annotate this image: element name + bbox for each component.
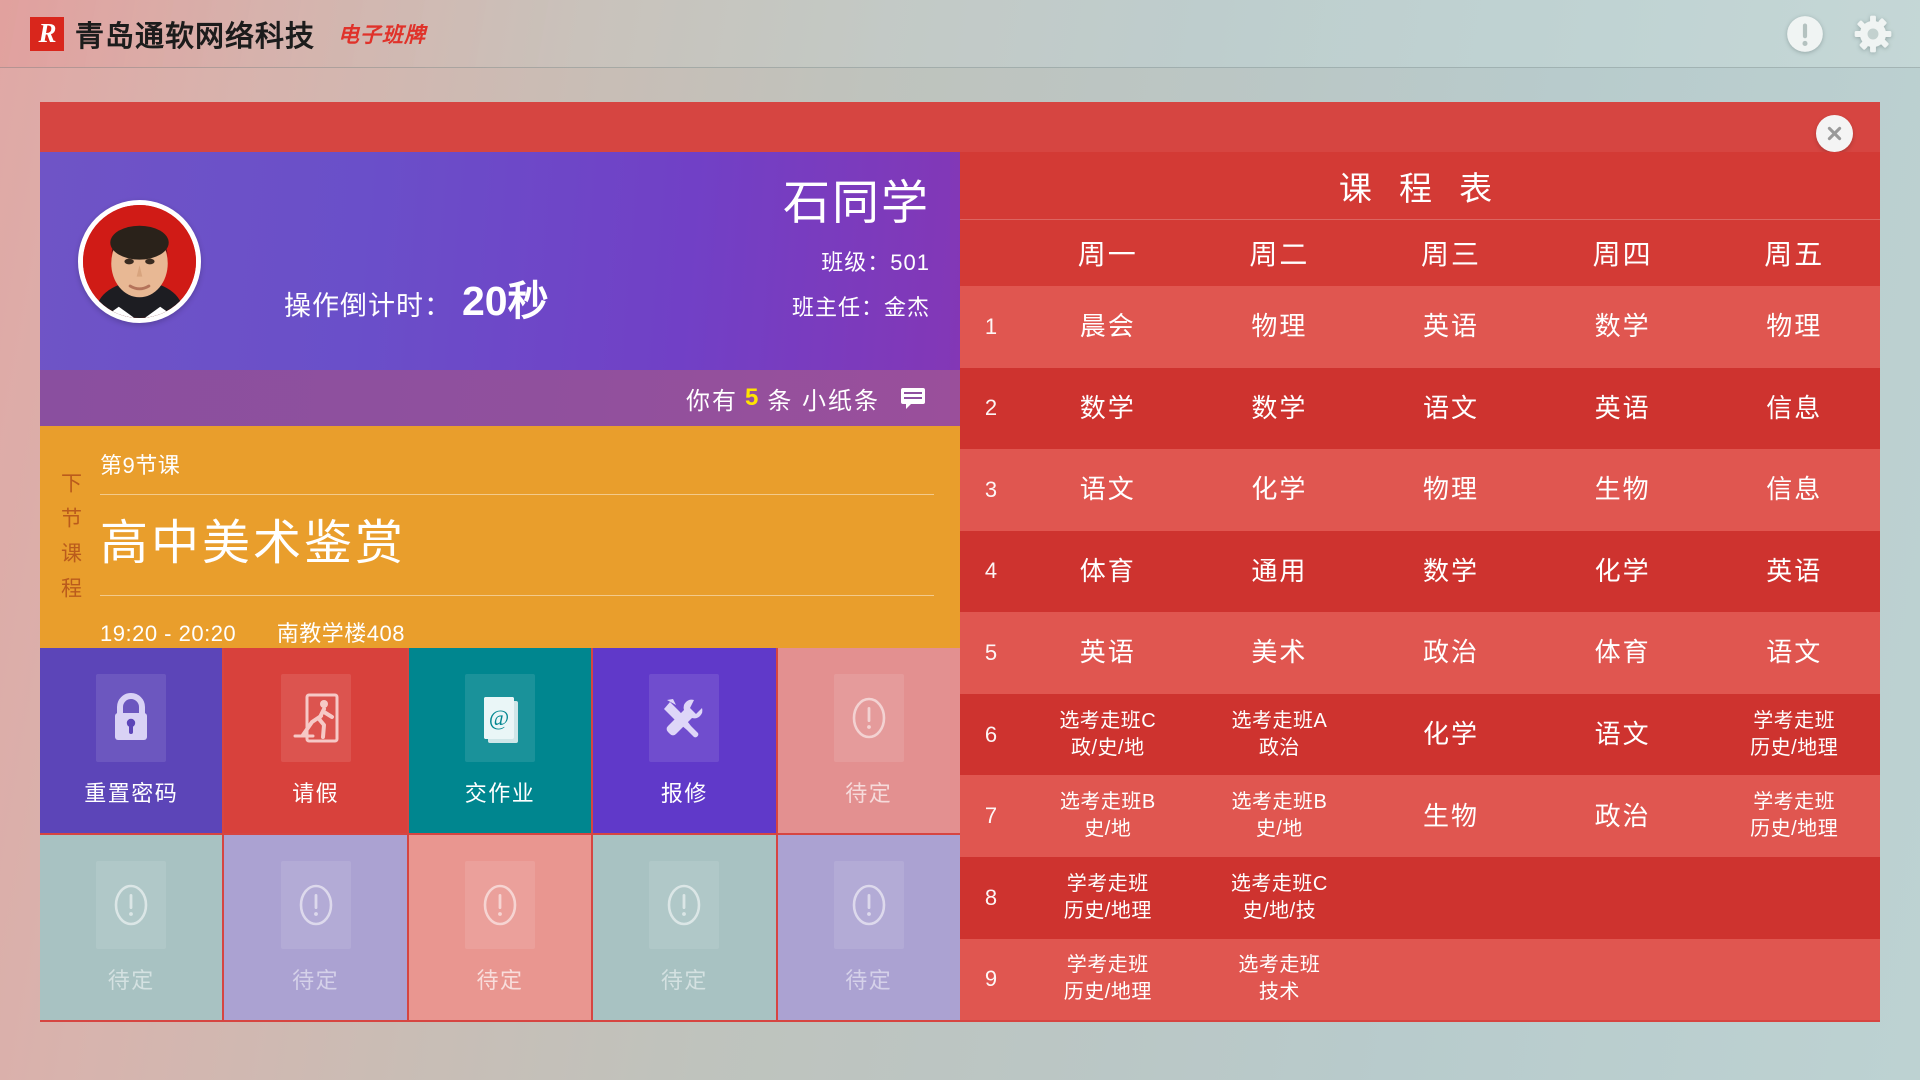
table-cell: 数学	[1022, 391, 1194, 426]
mail-at-icon: @	[465, 674, 535, 762]
pending-icon	[834, 861, 904, 949]
cell-line-1: 学考走班	[1067, 873, 1149, 895]
table-cell: 数学	[1365, 554, 1537, 589]
table-cell: 学考走班 历史/地理	[1022, 871, 1194, 925]
action-pending-6[interactable]: 待定	[778, 835, 960, 1020]
table-row: 5 英语 美术 政治 体育 语文	[960, 612, 1880, 694]
close-icon[interactable]	[1816, 115, 1853, 152]
table-cell: 英语	[1022, 635, 1194, 670]
table-cell: 英语	[1708, 554, 1880, 589]
next-course-body: 第9节课 高中美术鉴赏 19:20 - 20:20 南教学楼408	[100, 426, 960, 648]
lock-icon	[96, 674, 166, 762]
table-cell: 体育	[1537, 635, 1709, 670]
cell-line-1: 学考走班	[1067, 954, 1149, 976]
pending-icon	[834, 674, 904, 762]
table-cell: 选考走班B 史/地	[1022, 789, 1194, 843]
row-index: 8	[960, 885, 1022, 911]
cell-line-1: 选考走班B	[1231, 791, 1327, 813]
header-actions	[1784, 13, 1894, 55]
student-class: 班级：501	[783, 245, 930, 277]
day-header-tue: 周二	[1194, 233, 1366, 273]
table-cell: 化学	[1365, 717, 1537, 752]
next-course-footer: 19:20 - 20:20 南教学楼408	[100, 596, 934, 648]
cell-line-1: 选考走班B	[1060, 791, 1156, 813]
cell-line-1: 选考走班C	[1059, 710, 1156, 732]
action-label: 重置密码	[84, 776, 178, 808]
company-logo-icon: R	[30, 17, 64, 51]
table-row: 8 学考走班 历史/地理 选考走班C 史/地/技	[960, 857, 1880, 939]
table-cell: 数学	[1537, 309, 1709, 344]
action-label: 交作业	[465, 776, 536, 808]
table-cell: 英语	[1537, 391, 1709, 426]
action-label: 待定	[292, 963, 339, 995]
action-pending-4[interactable]: 待定	[409, 835, 591, 1020]
table-cell: 语文	[1022, 472, 1194, 507]
table-row: 4 体育 通用 数学 化学 英语	[960, 531, 1880, 613]
action-grid: 重置密码 请假	[40, 648, 960, 1020]
cell-line-1: 学考走班	[1753, 710, 1835, 732]
timetable-panel: 课 程 表 周一 周二 周三 周四 周五 1 晨会 物理 英语 数学 物理 2 …	[960, 152, 1880, 1020]
action-reset-password[interactable]: 重置密码	[40, 648, 222, 833]
table-cell: 选考走班A 政治	[1194, 708, 1366, 762]
cell-line-2: 历史/地理	[1026, 898, 1190, 925]
pending-icon	[649, 861, 719, 949]
table-cell: 选考走班 技术	[1194, 952, 1366, 1006]
day-header-fri: 周五	[1708, 233, 1880, 273]
cell-line-1: 选考走班A	[1231, 710, 1327, 732]
action-label: 待定	[108, 963, 155, 995]
pending-icon	[281, 861, 351, 949]
action-pending-3[interactable]: 待定	[224, 835, 406, 1020]
next-course-period: 第9节课	[100, 448, 934, 495]
table-row: 1 晨会 物理 英语 数学 物理	[960, 286, 1880, 368]
table-cell: 信息	[1708, 391, 1880, 426]
student-meta: 石同学 班级：501 班主任：金杰	[783, 174, 930, 322]
countdown: 操作倒计时： 20秒	[284, 267, 549, 327]
table-cell: 学考走班 历史/地理	[1708, 708, 1880, 762]
app-header: R 青岛通软网络科技 电子班牌	[0, 0, 1920, 68]
table-row: 9 学考走班 历史/地理 选考走班 技术	[960, 939, 1880, 1021]
cell-line-2: 史/地	[1198, 816, 1362, 843]
brand: R 青岛通软网络科技 电子班牌	[30, 13, 426, 55]
notes-count: 5	[745, 384, 760, 412]
day-header-wed: 周三	[1365, 233, 1537, 273]
table-row: 6 选考走班C 政/史/地 选考走班A 政治 化学 语文 学考走班 历史/地理	[960, 694, 1880, 776]
cell-line-1: 选考走班C	[1231, 873, 1328, 895]
table-cell: 物理	[1708, 309, 1880, 344]
table-cell: 物理	[1194, 309, 1366, 344]
action-report-repair[interactable]: 报修	[593, 648, 775, 833]
cell-line-2: 历史/地理	[1712, 816, 1876, 843]
day-header-thu: 周四	[1537, 233, 1709, 273]
cell-line-2: 技术	[1198, 979, 1362, 1006]
action-submit-homework[interactable]: @ 交作业	[409, 648, 591, 833]
cell-line-2: 史/地/技	[1198, 898, 1362, 925]
cell-line-2: 政/史/地	[1026, 735, 1190, 762]
message-icon	[900, 387, 926, 409]
notes-bar[interactable]: 你有 5 条 小纸条	[40, 370, 960, 426]
student-teacher: 班主任：金杰	[783, 290, 930, 322]
day-header-mon: 周一	[1022, 233, 1194, 273]
cell-line-2: 历史/地理	[1026, 979, 1190, 1006]
table-cell: 英语	[1365, 309, 1537, 344]
table-cell: 数学	[1194, 391, 1366, 426]
student-name: 石同学	[783, 174, 930, 232]
tools-icon	[649, 674, 719, 762]
table-cell: 语文	[1708, 635, 1880, 670]
cell-line-2: 史/地	[1026, 816, 1190, 843]
table-row: 3 语文 化学 物理 生物 信息	[960, 449, 1880, 531]
action-label: 请假	[292, 776, 339, 808]
table-cell: 化学	[1537, 554, 1709, 589]
student-card: 操作倒计时： 20秒 石同学 班级：501 班主任：金杰	[40, 152, 960, 370]
action-label: 待定	[845, 963, 892, 995]
notes-suffix: 条 小纸条	[767, 381, 880, 416]
table-cell: 学考走班 历史/地理	[1708, 789, 1880, 843]
brand-subtitle: 电子班牌	[338, 19, 426, 49]
gear-icon[interactable]	[1852, 13, 1894, 55]
table-cell: 生物	[1365, 799, 1537, 834]
next-course-title: 高中美术鉴赏	[100, 495, 934, 596]
table-cell: 信息	[1708, 472, 1880, 507]
action-pending-5[interactable]: 待定	[593, 835, 775, 1020]
action-label: 待定	[845, 776, 892, 808]
action-pending-2[interactable]: 待定	[40, 835, 222, 1020]
action-label: 报修	[661, 776, 708, 808]
timetable-body: 1 晨会 物理 英语 数学 物理 2 数学 数学 语文 英语 信息 3 语文 化…	[960, 286, 1880, 1020]
table-cell: 生物	[1537, 472, 1709, 507]
avatar	[78, 200, 201, 323]
alert-icon[interactable]	[1784, 13, 1826, 55]
countdown-value: 20秒	[462, 267, 549, 327]
table-cell: 政治	[1537, 799, 1709, 834]
action-request-leave[interactable]: 请假	[224, 648, 406, 833]
next-course-card: 下节课程 第9节课 高中美术鉴赏 19:20 - 20:20 南教学楼408	[40, 426, 960, 648]
action-pending-1[interactable]: 待定	[778, 648, 960, 833]
exit-run-icon	[281, 674, 351, 762]
action-label: 待定	[476, 963, 523, 995]
cell-line-1: 选考走班	[1238, 954, 1320, 976]
next-course-room: 南教学楼408	[277, 621, 405, 646]
table-row: 2 数学 数学 语文 英语 信息	[960, 368, 1880, 450]
pending-icon	[465, 861, 535, 949]
table-cell: 政治	[1365, 635, 1537, 670]
cell-line-1: 学考走班	[1753, 791, 1835, 813]
next-course-time: 19:20 - 20:20	[100, 621, 236, 646]
brand-name: 青岛通软网络科技	[75, 13, 315, 55]
table-cell: 选考走班C 史/地/技	[1194, 871, 1366, 925]
row-index: 6	[960, 722, 1022, 748]
table-cell: 语文	[1537, 717, 1709, 752]
table-cell: 选考走班C 政/史/地	[1022, 708, 1194, 762]
next-course-side-label: 下节课程	[40, 426, 100, 648]
table-cell: 学考走班 历史/地理	[1022, 952, 1194, 1006]
pending-icon	[96, 861, 166, 949]
row-index: 7	[960, 803, 1022, 829]
table-cell: 物理	[1365, 472, 1537, 507]
row-index: 1	[960, 314, 1022, 340]
table-cell: 通用	[1194, 554, 1366, 589]
table-row: 7 选考走班B 史/地 选考走班B 史/地 生物 政治 学考走班 历史/地理	[960, 775, 1880, 857]
notes-prefix: 你有	[686, 381, 738, 416]
table-cell: 晨会	[1022, 309, 1194, 344]
table-cell: 美术	[1194, 635, 1366, 670]
row-index: 9	[960, 966, 1022, 992]
table-cell: 化学	[1194, 472, 1366, 507]
countdown-label: 操作倒计时：	[284, 284, 452, 323]
svg-text:@: @	[489, 705, 509, 730]
table-cell: 体育	[1022, 554, 1194, 589]
row-index: 2	[960, 395, 1022, 421]
cell-line-2: 历史/地理	[1712, 735, 1876, 762]
timetable-title: 课 程 表	[960, 152, 1880, 220]
row-index: 5	[960, 640, 1022, 666]
table-cell: 语文	[1365, 391, 1537, 426]
table-cell: 选考走班B 史/地	[1194, 789, 1366, 843]
cell-line-2: 政治	[1198, 735, 1362, 762]
timetable-header-row: 周一 周二 周三 周四 周五	[960, 220, 1880, 286]
student-column: 操作倒计时： 20秒 石同学 班级：501 班主任：金杰 你有 5 条 小纸条 …	[40, 152, 960, 1020]
action-label: 待定	[661, 963, 708, 995]
row-index: 3	[960, 477, 1022, 503]
row-index: 4	[960, 558, 1022, 584]
